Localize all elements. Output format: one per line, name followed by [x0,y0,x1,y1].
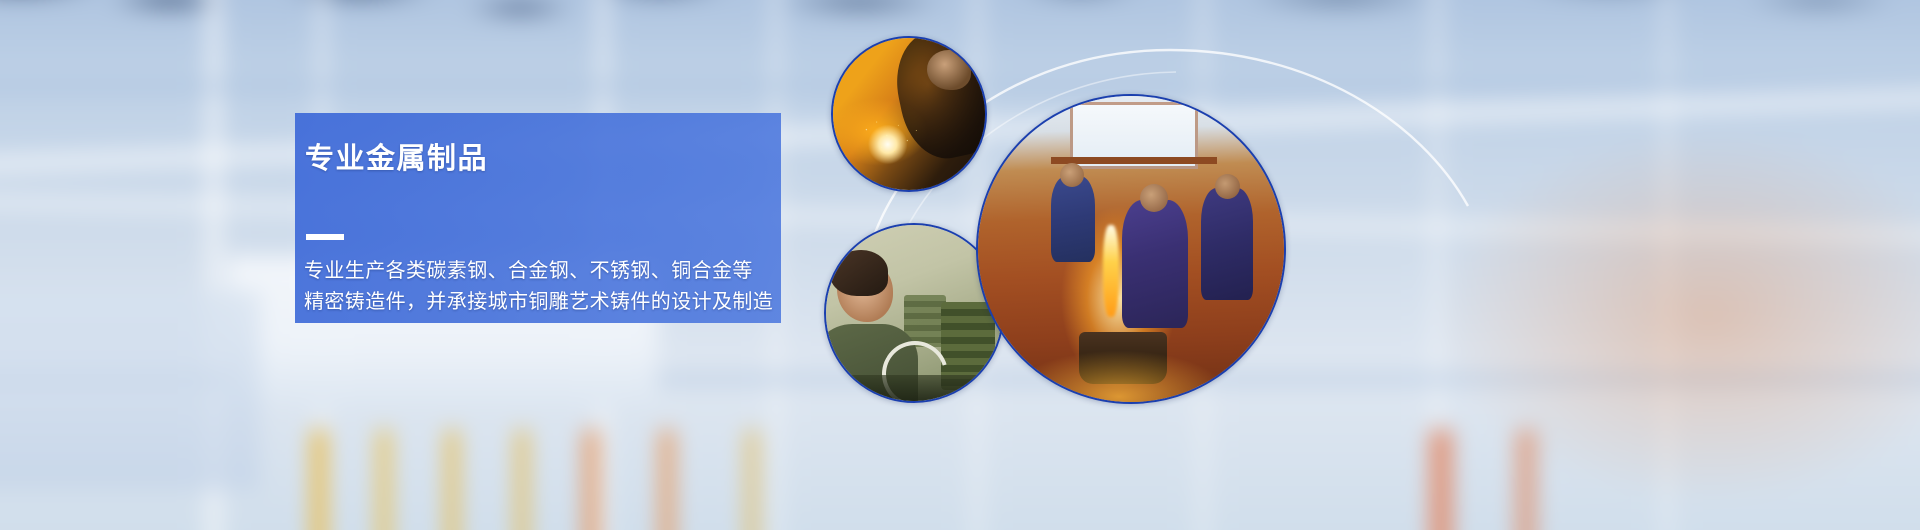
background-warm-glow [1300,80,1920,510]
title-divider-rule [306,234,344,240]
foundry-worker-left-head [1060,163,1084,187]
foundry-worker-center-head [1140,184,1168,212]
foundry-photo [978,96,1284,402]
panel-description-line-2: 精密铸造件，并承接城市铜雕艺术铸件的设计及制造 [304,287,864,318]
panel-description-line-1: 专业生产各类碳素钢、合金钢、不锈钢、铜合金等 [304,256,864,287]
foundry-worker-left [1051,176,1095,262]
workbench [826,375,1002,401]
foundry-furnace-circle [976,94,1286,404]
panel-title: 专业金属制品 [305,135,488,177]
banner-stage: 专业金属制品 专业生产各类碳素钢、合金钢、不锈钢、铜合金等 精密铸造件，并承接城… [0,0,1920,530]
welder-helmet [927,50,971,90]
spark-particles [860,117,924,159]
welding-sparks-circle [831,36,987,192]
furnace-floor-glow [978,267,1284,402]
foundry-worker-right-head [1215,174,1240,199]
welding-photo [833,38,985,190]
panel-description: 专业生产各类碳素钢、合金钢、不锈钢、铜合金等 精密铸造件，并承接城市铜雕艺术铸件… [304,256,864,318]
